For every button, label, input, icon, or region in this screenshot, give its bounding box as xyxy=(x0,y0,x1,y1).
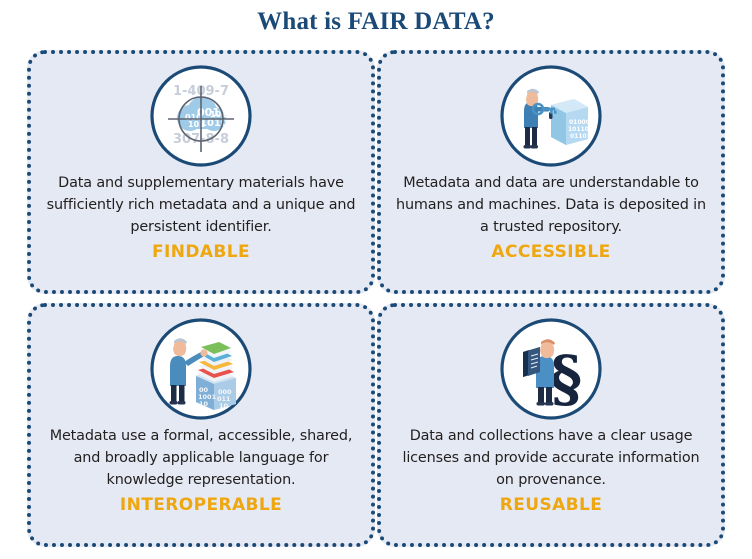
reusable-license-section-icon: § xyxy=(498,316,604,422)
card-description: Data and supplementary materials have su… xyxy=(43,173,359,239)
svg-text:10: 10 xyxy=(219,402,229,410)
accessible-key-repository-icon: 010001 101101 01101 xyxy=(498,63,604,169)
svg-text:010001: 010001 xyxy=(569,119,594,126)
card-description: Data and collections have a clear usage … xyxy=(393,426,709,492)
card-accessible[interactable]: 010001 101101 01101 xyxy=(377,50,725,294)
card-label-reusable: REUSABLE xyxy=(393,495,709,515)
fair-principles-grid: 1-409-7 307-8-8 010 001 101 101 xyxy=(27,50,725,547)
svg-text:10: 10 xyxy=(199,400,209,408)
card-interoperable[interactable]: 00 1001 10 000 011 10 xyxy=(27,303,375,547)
card-findable[interactable]: 1-409-7 307-8-8 010 001 101 101 xyxy=(27,50,375,294)
svg-text:§: § xyxy=(550,342,582,415)
svg-text:01101: 01101 xyxy=(570,133,591,140)
card-description: Metadata use a formal, accessible, share… xyxy=(43,426,359,492)
fair-data-infographic: What is FAIR DATA? 1-409-7 307-8-8 xyxy=(0,0,752,559)
card-reusable[interactable]: § xyxy=(377,303,725,547)
card-label-accessible: ACCESSIBLE xyxy=(393,242,709,262)
page-title: What is FAIR DATA? xyxy=(0,8,752,36)
card-label-interoperable: INTEROPERABLE xyxy=(43,495,359,515)
findable-target-cloud-icon: 1-409-7 307-8-8 010 001 101 101 xyxy=(148,63,254,169)
interoperable-documents-box-icon: 00 1001 10 000 011 10 xyxy=(148,316,254,422)
svg-text:101101: 101101 xyxy=(568,126,593,133)
card-description: Metadata and data are understandable to … xyxy=(393,173,709,239)
card-label-findable: FINDABLE xyxy=(43,242,359,262)
